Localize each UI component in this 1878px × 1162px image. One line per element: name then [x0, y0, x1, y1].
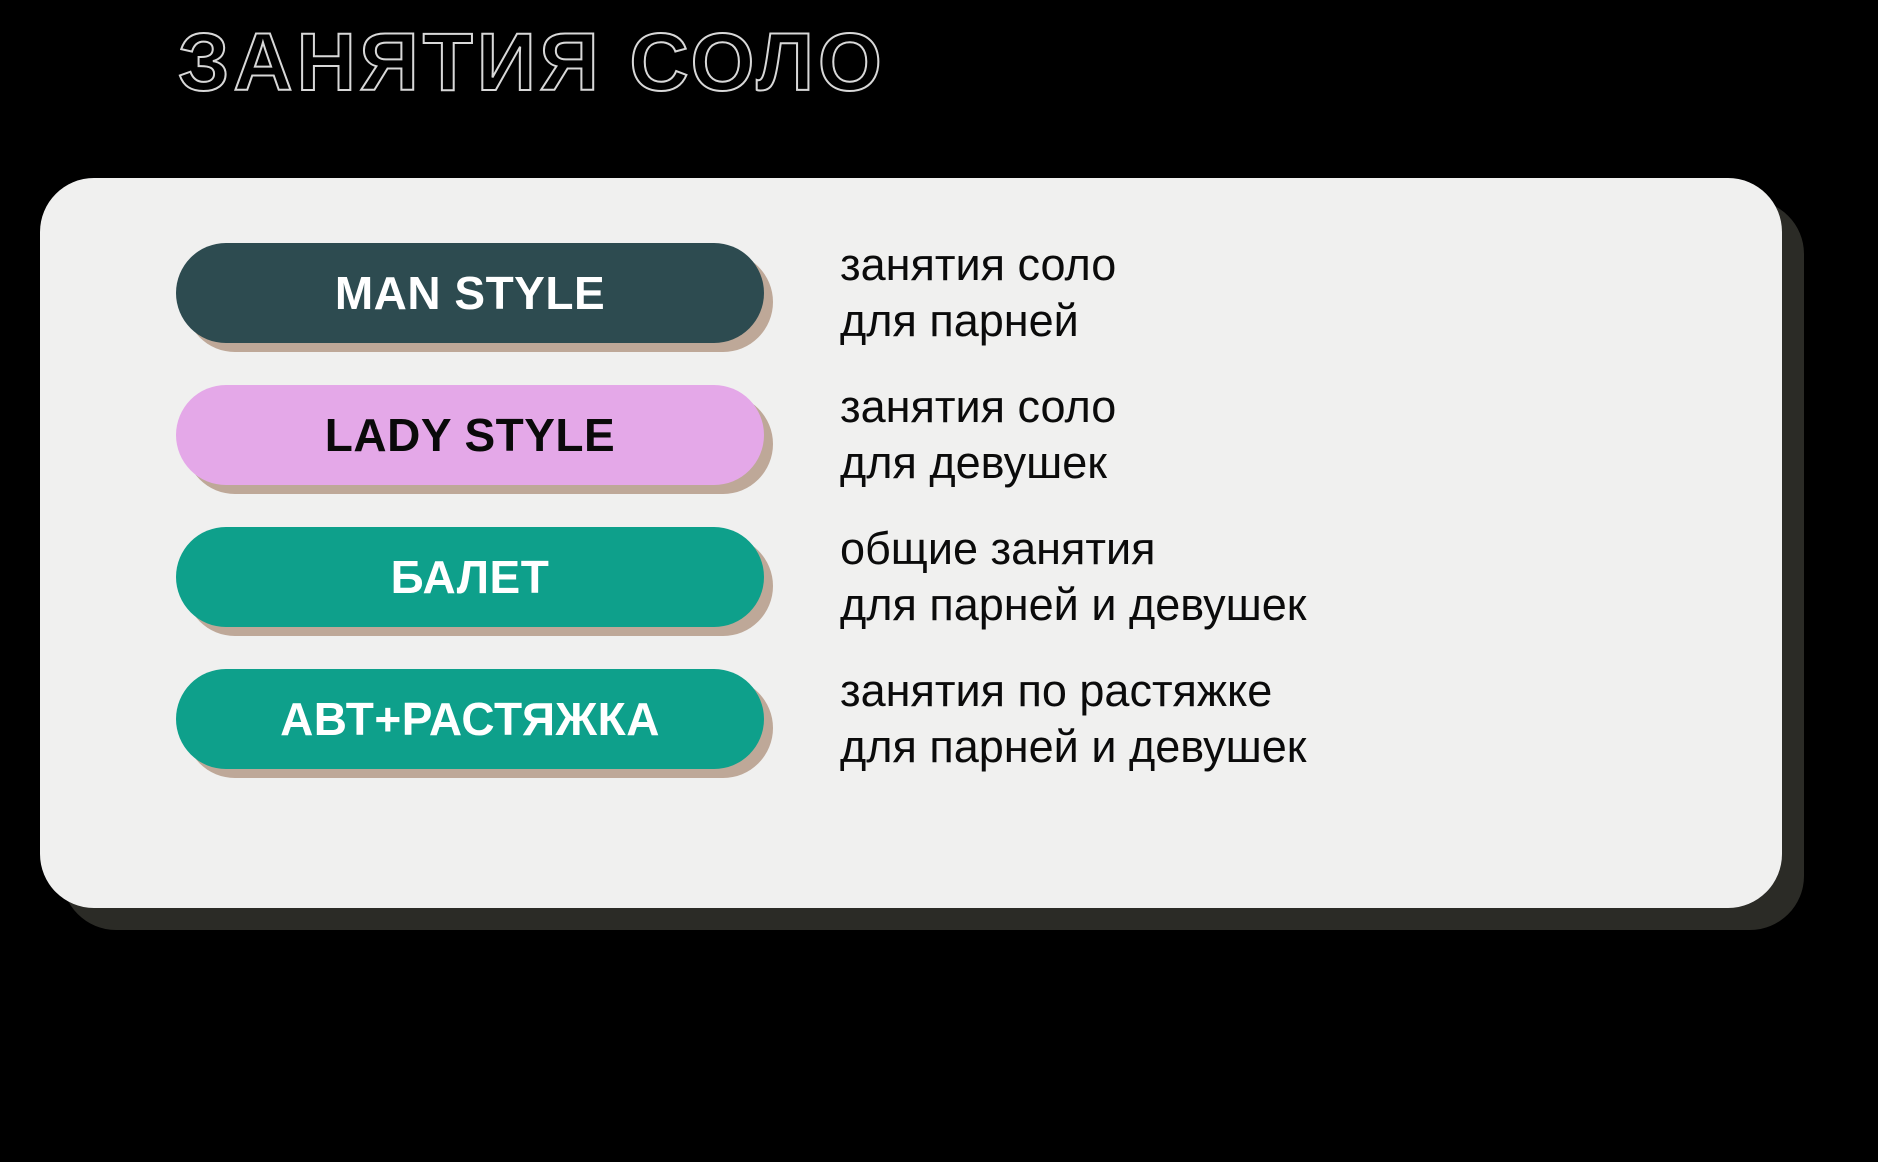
description-line-1: занятия соло: [840, 379, 1116, 435]
pill-label: LADY STYLE: [325, 408, 615, 462]
class-pill-man-style[interactable]: MAN STYLE: [176, 243, 764, 343]
class-description: занятия соло для парней: [840, 237, 1116, 349]
pill-label: БАЛЕТ: [391, 550, 550, 604]
list-item: БАЛЕТ общие занятия для парней и девушек: [176, 524, 1742, 630]
class-description: занятия соло для девушек: [840, 379, 1116, 491]
description-line-1: занятия соло: [840, 237, 1116, 293]
class-pill-ballet[interactable]: БАЛЕТ: [176, 527, 764, 627]
content-card: MAN STYLE занятия соло для парней LADY S…: [40, 178, 1782, 908]
description-line-1: общие занятия: [840, 521, 1306, 577]
pill-label: MAN STYLE: [335, 266, 605, 320]
description-line-2: для парней и девушек: [840, 577, 1306, 633]
list-item: LADY STYLE занятия соло для девушек: [176, 382, 1742, 488]
list-item: MAN STYLE занятия соло для парней: [176, 240, 1742, 346]
description-line-1: занятия по растяжке: [840, 663, 1306, 719]
description-line-2: для девушек: [840, 435, 1116, 491]
page-title: ЗАНЯТИЯ СОЛО: [178, 22, 886, 104]
class-pill-lady-style[interactable]: LADY STYLE: [176, 385, 764, 485]
description-line-2: для парней: [840, 293, 1116, 349]
class-description: общие занятия для парней и девушек: [840, 521, 1306, 633]
pill-label: АВТ+РАСТЯЖКА: [280, 692, 660, 746]
class-description: занятия по растяжке для парней и девушек: [840, 663, 1306, 775]
class-list: MAN STYLE занятия соло для парней LADY S…: [176, 240, 1742, 868]
description-line-2: для парней и девушек: [840, 719, 1306, 775]
list-item: АВТ+РАСТЯЖКА занятия по растяжке для пар…: [176, 666, 1742, 772]
class-pill-avt-stretching[interactable]: АВТ+РАСТЯЖКА: [176, 669, 764, 769]
